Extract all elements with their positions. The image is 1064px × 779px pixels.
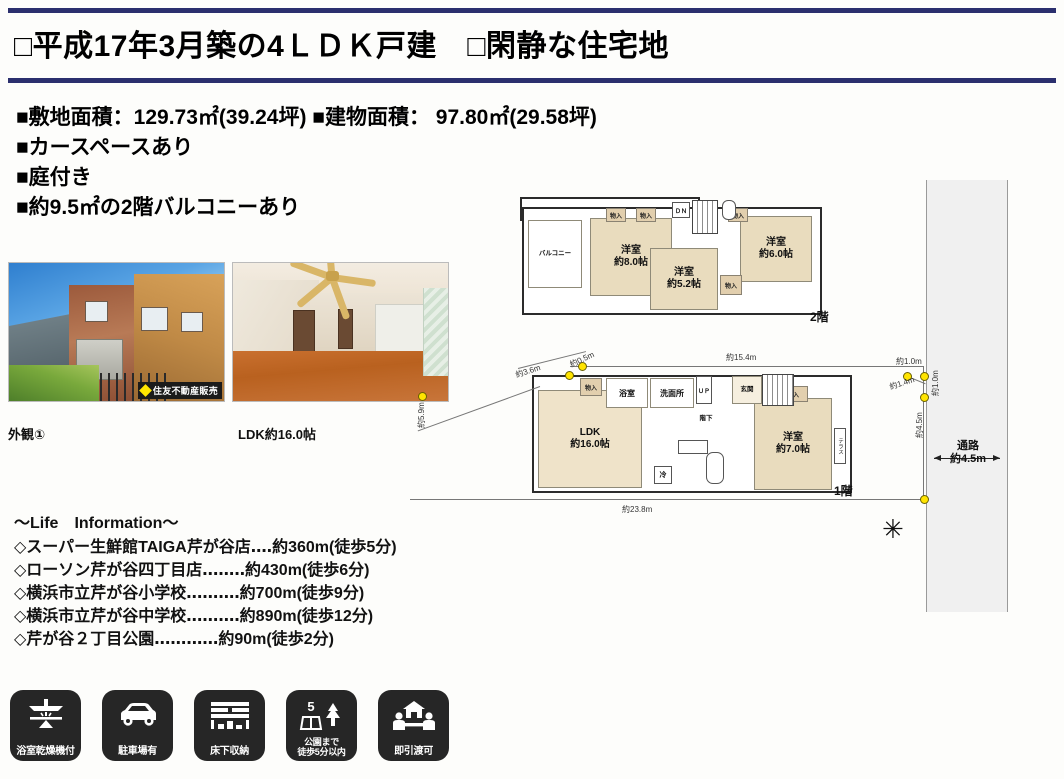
exterior-photo: 住友不動産販売: [8, 262, 225, 402]
second-floor-tag: 2階: [810, 308, 829, 325]
dim-right-vertical: 約4.5m: [914, 412, 925, 438]
compass-north-icon: ✳: [882, 516, 904, 542]
road-label: 通路 約4.5m: [930, 440, 1006, 466]
boundary-node-6: [920, 393, 929, 402]
1f-washroom: 洗面所: [650, 378, 694, 408]
badge-parking-label: 駐車場有: [118, 746, 157, 757]
1f-refrigerator: 冷: [654, 466, 672, 484]
boundary-node-7: [920, 495, 929, 504]
underfloor-storage-icon: [194, 695, 265, 735]
2f-balcony: バルコニー: [528, 220, 582, 288]
site-boundary-bottom: [410, 499, 924, 500]
dim-right-top: 約1.0m: [896, 356, 922, 367]
property-flyer: □平成17年3月築の4ＬＤＫ戸建 □閑静な住宅地 ■敷地面積：129.73㎡(3…: [0, 0, 1064, 779]
facade-window: [85, 301, 108, 322]
1f-staircase: [762, 374, 794, 406]
page-title: □平成17年3月築の4ＬＤＫ戸建 □閑静な住宅地: [14, 22, 1044, 72]
access-road: [926, 180, 1008, 612]
badge-bath-dryer: 浴室乾燥機付: [10, 690, 81, 761]
plan-area: バルコニー 洋室 約8.0帖 洋室 約5.2帖 洋室 約6.0帖 物入 物入 物…: [410, 190, 1064, 600]
life-item-park: ◇芹が谷２丁目公園‥‥‥‥‥‥約90m(徒歩2分): [14, 628, 494, 651]
dim-bottom: 約23.8m: [622, 504, 652, 515]
2f-balcony-label: バルコニー: [539, 250, 571, 258]
dim-top: 約15.4m: [726, 352, 756, 363]
boundary-node-1: [418, 392, 427, 401]
first-floor-tag: 1階: [834, 482, 853, 499]
1f-under-stair-storage: 階下: [688, 408, 724, 430]
1f-washroom-label: 洗面所: [660, 389, 684, 398]
park-walk-icon: 5: [286, 695, 357, 735]
dim-left-vertical: 約5.9m: [416, 402, 427, 428]
1f-bath: 浴室: [606, 378, 648, 408]
2f-western-room-6-label: 洋室 約6.0帖: [759, 237, 793, 261]
foliage: [9, 365, 99, 401]
badge-parking: 駐車場有: [102, 690, 173, 761]
right-window-lower: [181, 312, 203, 332]
dim-right-slant: 約1.4m: [888, 374, 916, 392]
1f-terrace: テラス: [834, 428, 846, 464]
1f-under-stair-storage-label: 階下: [700, 415, 713, 423]
badge-underfloor-storage: 床下収納: [194, 690, 265, 761]
1f-entrance: 玄関: [732, 376, 762, 404]
svg-text:5: 5: [307, 699, 314, 714]
boundary-node-5: [920, 372, 929, 381]
feature-badge-row: 浴室乾燥機付 駐車場有: [10, 690, 449, 761]
spec-line-garden: ■庭付き: [16, 163, 756, 193]
2f-western-room-5-2-label: 洋室 約5.2帖: [667, 267, 701, 291]
badge-underfloor-storage-label: 床下収納: [210, 746, 249, 757]
car-icon: [102, 695, 173, 735]
badge-bath-dryer-label: 浴室乾燥機付: [16, 746, 74, 757]
ldk-photo-caption: LDK約16.0帖: [238, 424, 316, 443]
2f-closet-4: 物入: [720, 275, 742, 295]
2f-closet-1: 物入: [606, 208, 626, 222]
ceiling-fan-icon: [326, 271, 339, 281]
1f-closet-1: 物入: [580, 378, 602, 396]
2f-down-stair-marker: ＤＮ: [672, 202, 690, 218]
interior-door-left: [293, 310, 314, 353]
badge-immediate-handover: 即引渡可: [378, 690, 449, 761]
exterior-photo-caption: 外観①: [8, 424, 45, 443]
header-rule-bottom: [8, 78, 1056, 83]
1f-up-stair-marker: ＵＰ: [696, 376, 712, 404]
badge-park-walk-label: 公園まで 徒歩5分以内: [297, 737, 345, 757]
site-boundary-top: [570, 366, 924, 367]
right-window-upper: [141, 307, 168, 331]
1f-bath-label: 浴室: [619, 389, 635, 398]
2f-closet-2: 物入: [636, 208, 656, 222]
site-boundary-upper-left: [418, 386, 541, 431]
2f-toilet: [722, 200, 736, 220]
boundary-node-2: [565, 371, 574, 380]
header-rule-top: [8, 8, 1056, 13]
life-item-junior-high: ◇横浜市立芹が谷中学校‥‥‥‥‥約890m(徒歩12分): [14, 605, 494, 628]
bath-dryer-icon: [10, 695, 81, 735]
2f-western-room-8-label: 洋室 約8.0帖: [614, 245, 648, 269]
badge-park-walk: 5 公園まで 徒歩5分以内: [286, 690, 357, 761]
spec-line-area: ■敷地面積：129.73㎡(39.24坪) ■建物面積： 97.80㎡(29.5…: [16, 103, 756, 133]
badge-immediate-handover-label: 即引渡可: [394, 746, 433, 757]
2f-western-room-6: 洋室 約6.0帖: [740, 216, 812, 282]
handover-icon: [378, 695, 449, 735]
spec-line-carspace: ■カースペースあり: [16, 133, 756, 163]
1f-ldk-label: LDK 約16.0帖: [570, 427, 609, 451]
1f-kitchen-counter: [678, 440, 708, 454]
1f-western-room-7: 洋室 約7.0帖: [754, 398, 832, 490]
2f-staircase: [692, 200, 718, 234]
1f-western-room-7-label: 洋室 約7.0帖: [776, 432, 810, 456]
1f-entrance-label: 玄関: [741, 386, 754, 394]
1f-toilet: [706, 452, 724, 484]
2f-western-room-5-2: 洋室 約5.2帖: [650, 248, 718, 310]
watermark: 住友不動産販売: [138, 382, 222, 399]
dim-right-vertical-small: 約1.0m: [930, 370, 941, 396]
watermark-text: 住友不動産販売: [153, 384, 218, 397]
sumitomo-diamond-icon: [139, 384, 152, 397]
